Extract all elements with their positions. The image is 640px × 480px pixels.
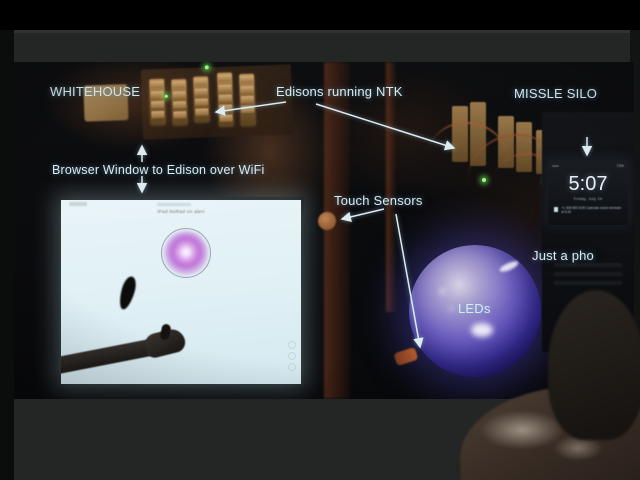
pin-header (193, 76, 210, 122)
phone-date: Friday, July 24 (548, 196, 628, 201)
signal-icon: ••••• (552, 164, 559, 168)
radial-glow-indicator[interactable] (161, 228, 211, 278)
balloon-highlight (498, 259, 519, 274)
phone-lock-screen[interactable]: ••••• 73% 5:07 Friday, July 24 +1 408 55… (548, 160, 628, 225)
label-touch-sensors: Touch Sensors (334, 193, 423, 208)
notification-text: +1 408 555 0199 Calendar event reminder … (561, 206, 622, 214)
audience-head (548, 290, 640, 440)
label-browser-window: Browser Window to Edison over WiFi (52, 163, 264, 177)
projected-slide: iPad NoRad on alert (14, 62, 634, 399)
battery-label: 73% (617, 164, 624, 168)
label-whitehouse: WHITEHOUSE (50, 84, 140, 99)
browser-window-screen[interactable]: iPad NoRad on alert (61, 200, 301, 384)
status-led-green (482, 178, 486, 182)
touch-sensor-pad (318, 212, 336, 230)
wooden-post (324, 62, 350, 399)
swipe-stroke-mark (117, 275, 139, 311)
label-just-a-phone: Just a pho (532, 248, 594, 263)
page-title: iPad NoRad on alert (61, 209, 301, 214)
pin-header (217, 72, 234, 126)
screen-side-controls (288, 341, 296, 374)
browser-toolbar-left (69, 202, 87, 206)
label-missile-silo: MISSLE SILO (514, 86, 597, 101)
orange-cable-vertical (386, 62, 396, 312)
label-edisons-running-ntk: Edisons running NTK (276, 84, 403, 99)
browser-url-bar (157, 203, 191, 206)
label-leds: LEDs (458, 301, 491, 316)
phone-clock: 5:07 (548, 174, 628, 194)
phone-status-bar: ••••• 73% (552, 163, 624, 168)
status-led-green (165, 95, 168, 98)
pin-header (239, 74, 256, 126)
edison-board-stack-left (141, 64, 293, 139)
screenshot-root: iPad NoRad on alert (0, 0, 640, 480)
pin-header (171, 79, 188, 125)
phone-notification[interactable]: +1 408 555 0199 Calendar event reminder … (554, 206, 622, 218)
pin-header (149, 79, 166, 125)
wall-left-edge (0, 30, 14, 480)
glow-core (164, 231, 208, 275)
notification-app-icon (554, 207, 558, 212)
wall-top-edge (0, 30, 640, 33)
tablet-device: iPad NoRad on alert (59, 197, 304, 387)
